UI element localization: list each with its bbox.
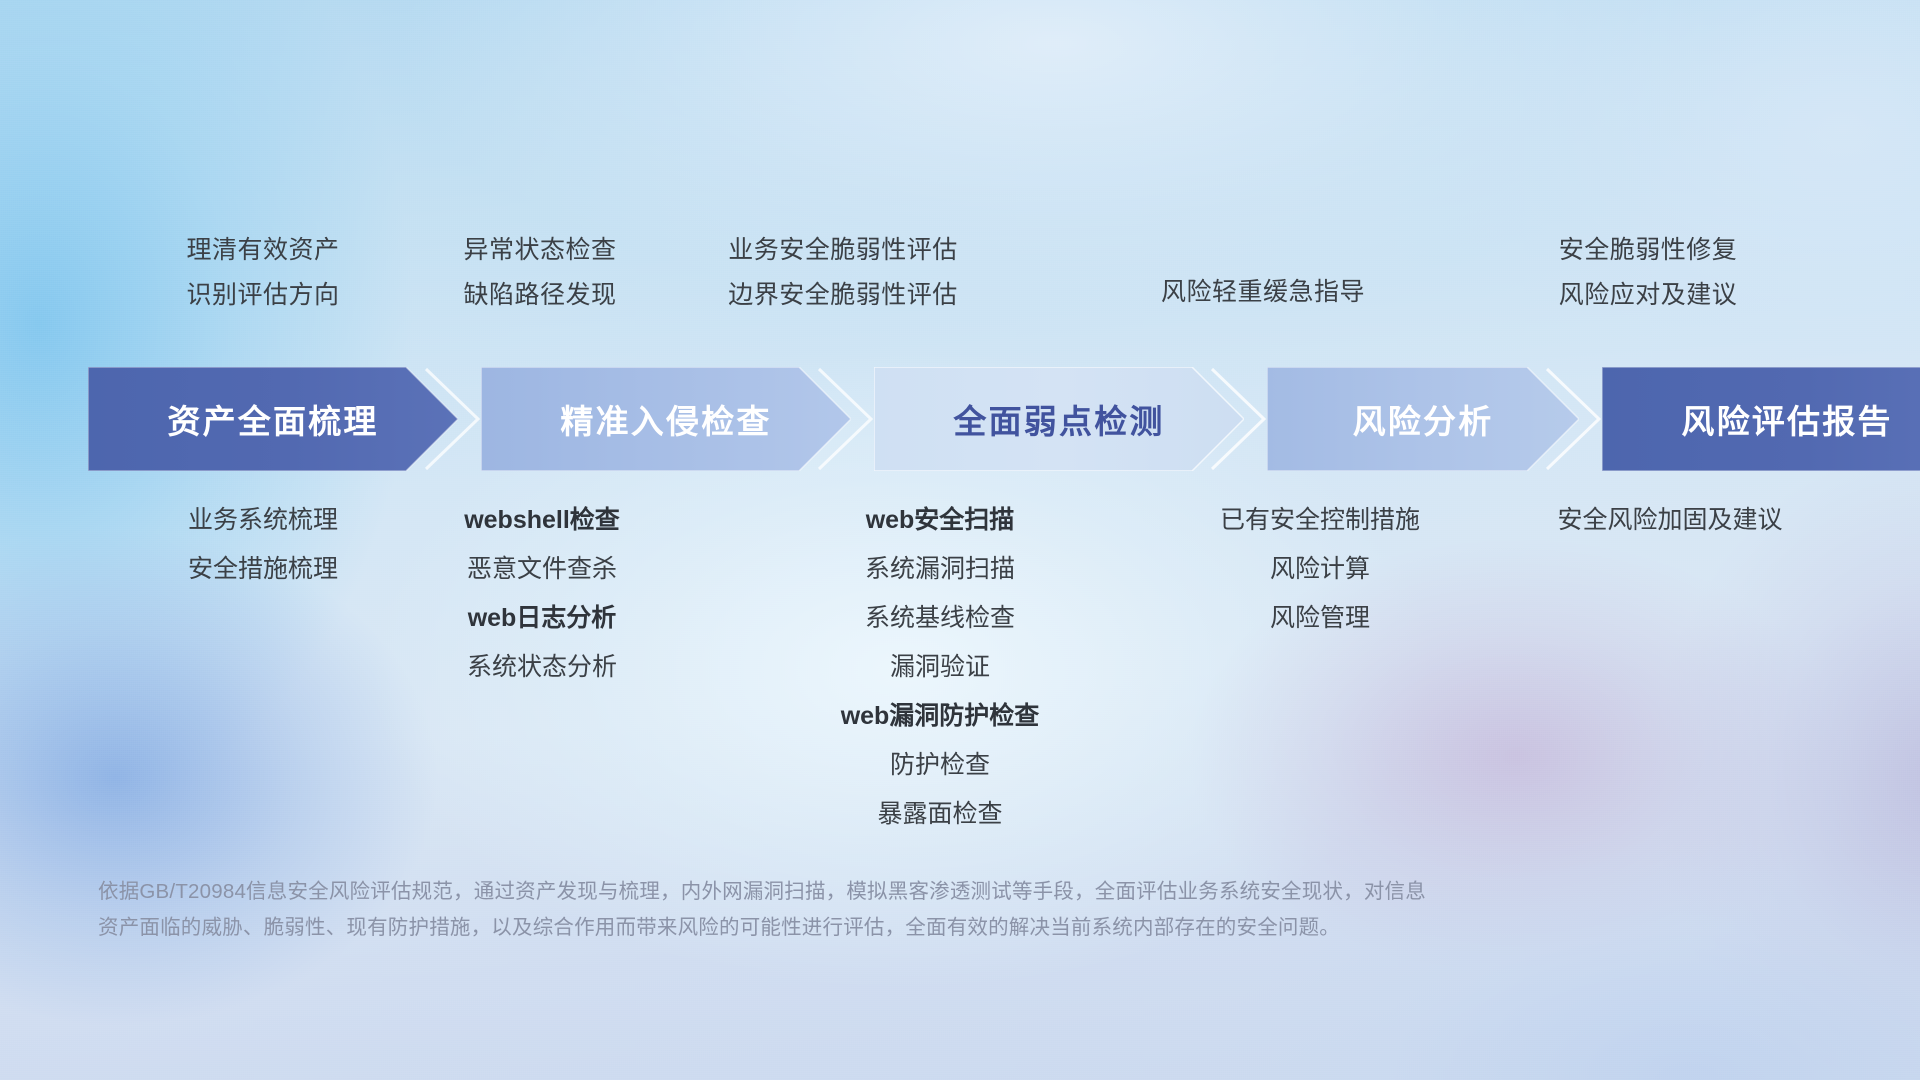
top-caption-row: 理清有效资产 识别评估方向 异常状态检查 缺陷路径发现 业务安全脆弱性评估 边界… xyxy=(0,228,1920,338)
bottom-caption-line: web日志分析 xyxy=(352,594,732,643)
bottom-caption-line: 暴露面检查 xyxy=(740,790,1140,839)
bottom-caption-line: 安全风险加固及建议 xyxy=(1450,496,1890,545)
top-caption-stage-5: 安全脆弱性修复 风险应对及建议 xyxy=(1433,228,1863,318)
process-arrow-band: 资产全面梳理 xyxy=(88,367,1848,471)
process-stage-5-label: 风险评估报告 xyxy=(1681,395,1892,443)
top-caption-line: 安全脆弱性修复 xyxy=(1433,228,1863,273)
bottom-caption-line: 风险管理 xyxy=(1120,594,1520,643)
bottom-caption-line: 系统漏洞扫描 xyxy=(740,545,1140,594)
bottom-caption-stage-2: webshell检查 恶意文件查杀 web日志分析 系统状态分析 xyxy=(352,496,732,692)
process-stage-5[interactable]: 风险评估报告 xyxy=(1602,367,1920,471)
process-stage-3-label: 全面弱点检测 xyxy=(953,395,1164,443)
slide-canvas: 理清有效资产 识别评估方向 异常状态检查 缺陷路径发现 业务安全脆弱性评估 边界… xyxy=(0,0,1920,1080)
footer-note-line-1: 依据GB/T20984信息安全风险评估规范，通过资产发现与梳理，内外网漏洞扫描，… xyxy=(98,874,1758,910)
bottom-caption-line: 系统状态分析 xyxy=(352,643,732,692)
process-stage-3[interactable]: 全面弱点检测 xyxy=(874,367,1244,471)
process-stage-1[interactable]: 资产全面梳理 xyxy=(88,367,458,471)
bottom-caption-line: 漏洞验证 xyxy=(740,643,1140,692)
slide-content: 理清有效资产 识别评估方向 异常状态检查 缺陷路径发现 业务安全脆弱性评估 边界… xyxy=(0,0,1920,1080)
process-stage-4[interactable]: 风险分析 xyxy=(1267,367,1579,471)
bottom-caption-line: 系统基线检查 xyxy=(740,594,1140,643)
bottom-caption-line: web安全扫描 xyxy=(740,496,1140,545)
process-stage-1-label: 资产全面梳理 xyxy=(167,395,378,443)
bottom-caption-row: 业务系统梳理 安全措施梳理 webshell检查 恶意文件查杀 web日志分析 … xyxy=(0,496,1920,826)
bottom-caption-stage-3: web安全扫描 系统漏洞扫描 系统基线检查 漏洞验证 web漏洞防护检查 防护检… xyxy=(740,496,1140,839)
footer-note: 依据GB/T20984信息安全风险评估规范，通过资产发现与梳理，内外网漏洞扫描，… xyxy=(98,874,1758,946)
footer-note-line-2: 资产面临的威胁、脆弱性、现有防护措施，以及综合作用而带来风险的可能性进行评估，全… xyxy=(98,910,1758,946)
top-caption-line: 风险轻重缓急指导 xyxy=(1093,270,1433,315)
process-stage-2-label: 精准入侵检查 xyxy=(560,395,771,443)
top-caption-line: 业务安全脆弱性评估 xyxy=(628,228,1058,273)
bottom-caption-stage-5: 安全风险加固及建议 xyxy=(1450,496,1890,545)
top-caption-line: 边界安全脆弱性评估 xyxy=(628,273,1058,318)
top-caption-line: 风险应对及建议 xyxy=(1433,273,1863,318)
top-caption-stage-4: 风险轻重缓急指导 xyxy=(1093,270,1433,315)
bottom-caption-line: 风险计算 xyxy=(1120,545,1520,594)
process-stage-4-label: 风险分析 xyxy=(1353,395,1494,443)
process-stage-2[interactable]: 精准入侵检查 xyxy=(481,367,851,471)
bottom-caption-line: 防护检查 xyxy=(740,741,1140,790)
bottom-caption-line: webshell检查 xyxy=(352,496,732,545)
top-caption-stage-3: 业务安全脆弱性评估 边界安全脆弱性评估 xyxy=(628,228,1058,318)
bottom-caption-line: web漏洞防护检查 xyxy=(740,692,1140,741)
bottom-caption-line: 恶意文件查杀 xyxy=(352,545,732,594)
